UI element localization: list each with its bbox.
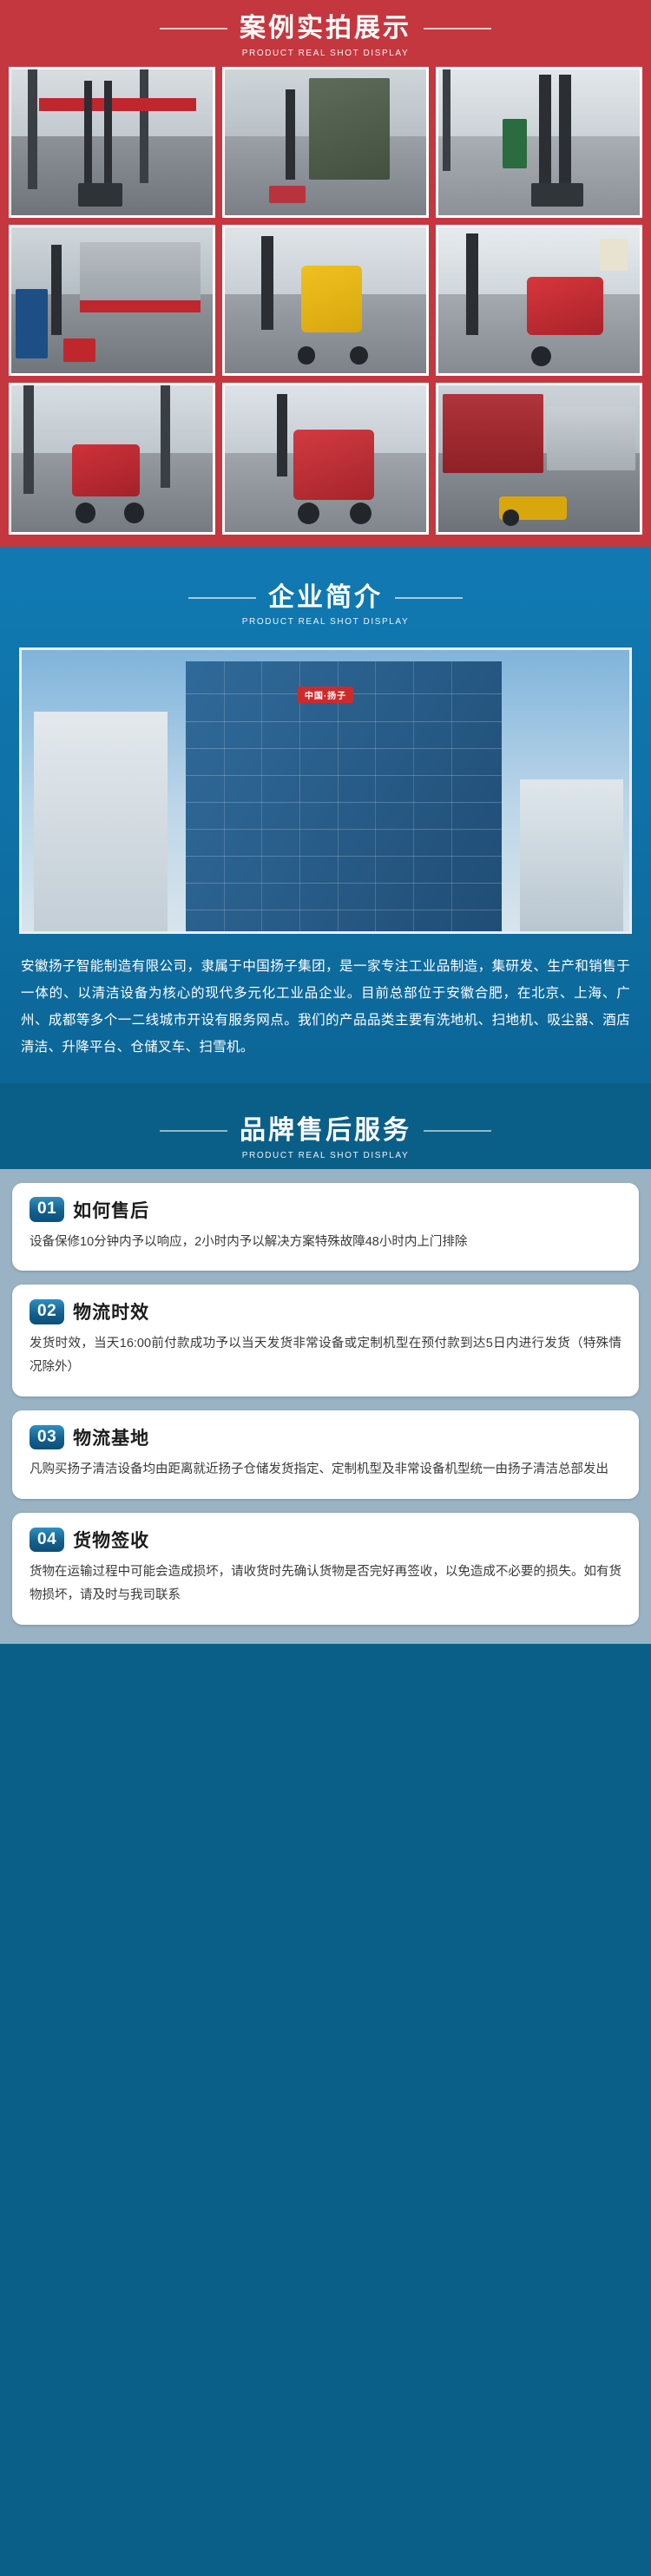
service-card[interactable]: 02 物流时效 发货时效，当天16:00前付款成功予以当天发货非常设备或定制机型… (12, 1285, 639, 1396)
service-card-body: 凡购买扬子清洁设备均由距离就近扬子仓储发货指定、定制机型及非常设备机型统一由扬子… (30, 1458, 621, 1482)
profile-title: 企业简介 (268, 583, 383, 614)
service-card-body: 设备保修10分钟内予以响应，2小时内予以解决方案特殊故障48小时内上门排除 (30, 1231, 621, 1254)
header-rule-right (395, 597, 463, 599)
service-subtitle: PRODUCT REAL SHOT DISPLAY (0, 1151, 651, 1160)
service-title: 品牌售后服务 (240, 1116, 411, 1147)
service-card-list: 01 如何售后 设备保修10分钟内予以响应，2小时内予以解决方案特殊故障48小时… (0, 1169, 651, 1644)
profile-subtitle: PRODUCT REAL SHOT DISPLAY (0, 617, 651, 627)
company-description: 安徽扬子智能制造有限公司，隶属于中国扬子集团，是一家专注工业品制造，集研发、生产… (0, 934, 651, 1074)
service-card-body: 货物在运输过程中可能会造成损坏，请收货时先确认货物是否完好再签收，以免造成不必要… (30, 1561, 621, 1607)
header-rule-left (188, 597, 256, 599)
showcase-photo[interactable] (436, 225, 642, 376)
service-header: 品牌售后服务 PRODUCT REAL SHOT DISPLAY (0, 1102, 651, 1169)
service-card-title: 物流时效 (73, 1298, 149, 1324)
page-title: 案例实拍展示 (240, 14, 411, 44)
showcase-photo[interactable] (9, 67, 215, 218)
service-card[interactable]: 01 如何售后 设备保修10分钟内予以响应，2小时内予以解决方案特殊故障48小时… (12, 1183, 639, 1272)
showcase-header: 案例实拍展示 PRODUCT REAL SHOT DISPLAY (0, 0, 651, 67)
showcase-subtitle: PRODUCT REAL SHOT DISPLAY (0, 49, 651, 58)
service-card-title: 如何售后 (73, 1197, 149, 1223)
adjacent-building-left (34, 712, 168, 931)
showcase-photo[interactable] (9, 383, 215, 534)
showcase-photo[interactable] (222, 67, 429, 218)
showcase-photo[interactable] (436, 67, 642, 218)
service-card[interactable]: 04 货物签收 货物在运输过程中可能会造成损坏，请收货时先确认货物是否完好再签收… (12, 1513, 639, 1625)
adjacent-building-right (520, 779, 623, 931)
company-profile-section: 企业简介 PRODUCT REAL SHOT DISPLAY 中国·扬子 安徽 (0, 547, 651, 1084)
building-logo-sign: 中国·扬子 (298, 687, 353, 703)
service-card-number: 03 (30, 1425, 64, 1450)
photo-grid (0, 67, 651, 535)
showcase-photo[interactable] (9, 225, 215, 376)
service-card-title: 货物签收 (73, 1527, 149, 1553)
service-card-body: 发货时效，当天16:00前付款成功予以当天发货非常设备或定制机型在预付款到达5日… (30, 1332, 621, 1379)
showcase-photo[interactable] (222, 383, 429, 534)
header-rule-left (160, 1130, 227, 1132)
header-rule-right (424, 28, 491, 30)
showcase-photo[interactable] (222, 225, 429, 376)
service-card-title: 物流基地 (73, 1424, 149, 1450)
company-building-photo: 中国·扬子 (19, 647, 632, 934)
header-rule-left (160, 28, 227, 30)
header-rule-right (424, 1130, 491, 1132)
service-card-number: 02 (30, 1299, 64, 1324)
service-card-number: 01 (30, 1197, 64, 1222)
profile-header: 企业简介 PRODUCT REAL SHOT DISPLAY (0, 569, 651, 636)
service-card-number: 04 (30, 1528, 64, 1553)
after-sales-section: 品牌售后服务 PRODUCT REAL SHOT DISPLAY 01 如何售后… (0, 1083, 651, 1646)
service-card[interactable]: 03 物流基地 凡购买扬子清洁设备均由距离就近扬子仓储发货指定、定制机型及非常设… (12, 1410, 639, 1499)
case-showcase-section: 案例实拍展示 PRODUCT REAL SHOT DISPLAY (0, 0, 651, 547)
company-building-photo-wrapper: 中国·扬子 (0, 635, 651, 934)
showcase-photo[interactable] (436, 383, 642, 534)
